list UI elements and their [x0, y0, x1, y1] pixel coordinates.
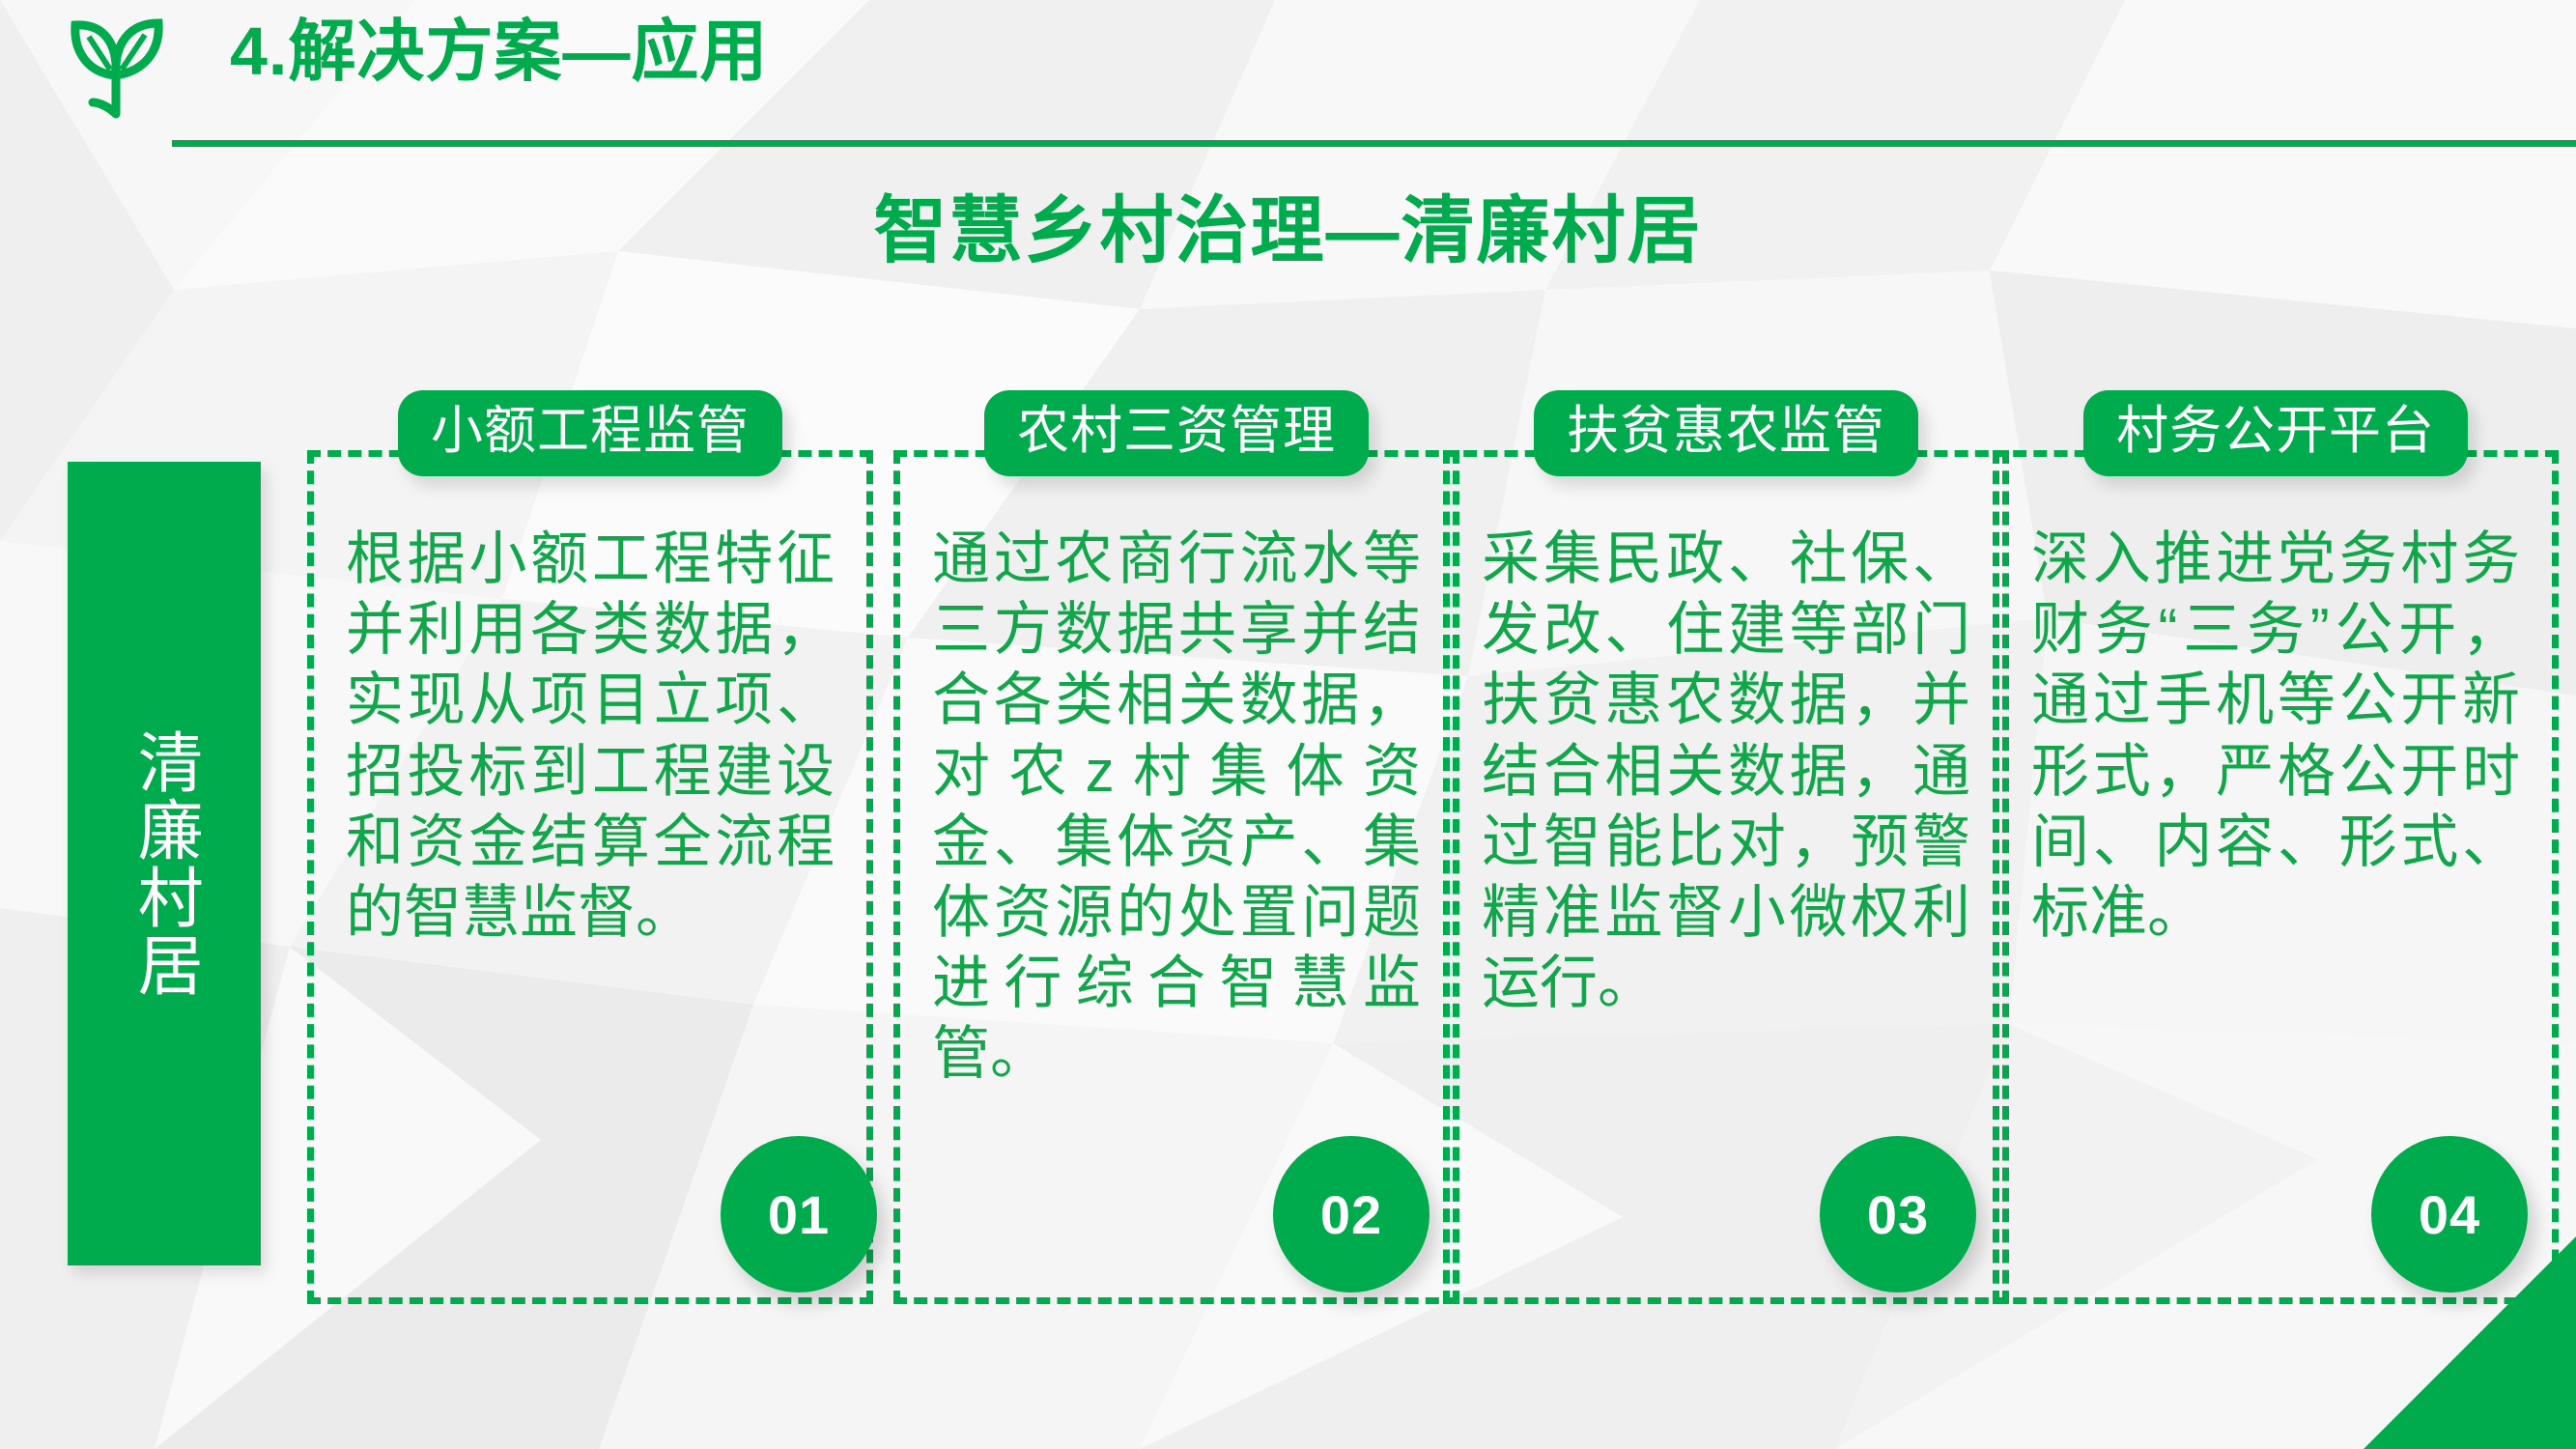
card-number-badge-1: 01	[721, 1136, 877, 1293]
card-title-pill: 小额工程监管	[398, 390, 782, 476]
corner-accent-triangle	[2257, 1207, 2576, 1449]
card-number-badge-3: 03	[1820, 1136, 1976, 1293]
page-title: 4.解决方案—应用	[230, 17, 768, 85]
card-title-pill: 农村三资管理	[984, 390, 1369, 476]
leaf-icon	[60, 14, 176, 120]
card-title-pill: 村务公开平台	[2083, 390, 2468, 476]
header-divider	[172, 140, 2576, 147]
slide-canvas: 4.解决方案—应用 智慧乡村治理—清廉村居 清廉村居 小额工程监管 根据小额工程…	[0, 0, 2576, 1449]
card-body-text: 通过农商行流水等三方数据共享并结合各类相关数据，对农z村集体资金、集体资产、集体…	[932, 524, 1421, 1090]
card-body-text: 深入推进党务村务财务“三务”公开，通过手机等公开新形式，严格公开时间、内容、形式…	[2031, 524, 2520, 948]
card-number-badge-2: 02	[1273, 1136, 1430, 1293]
card-body-text: 采集民政、社保、发改、住建等部门扶贫惠农数据，并结合相关数据，通过智能比对，预警…	[1482, 524, 1970, 1018]
slide-header: 4.解决方案—应用	[0, 0, 2576, 155]
left-category-panel: 清廉村居	[68, 462, 261, 1265]
left-category-label: 清廉村居	[68, 462, 261, 1265]
card-body-text: 根据小额工程特征并利用各类数据，实现从项目立项、招投标到工程建设和资金结算全流程…	[346, 524, 835, 948]
card-title-pill: 扶贫惠农监管	[1534, 390, 1918, 476]
main-title: 智慧乡村治理—清廉村居	[0, 191, 2576, 272]
